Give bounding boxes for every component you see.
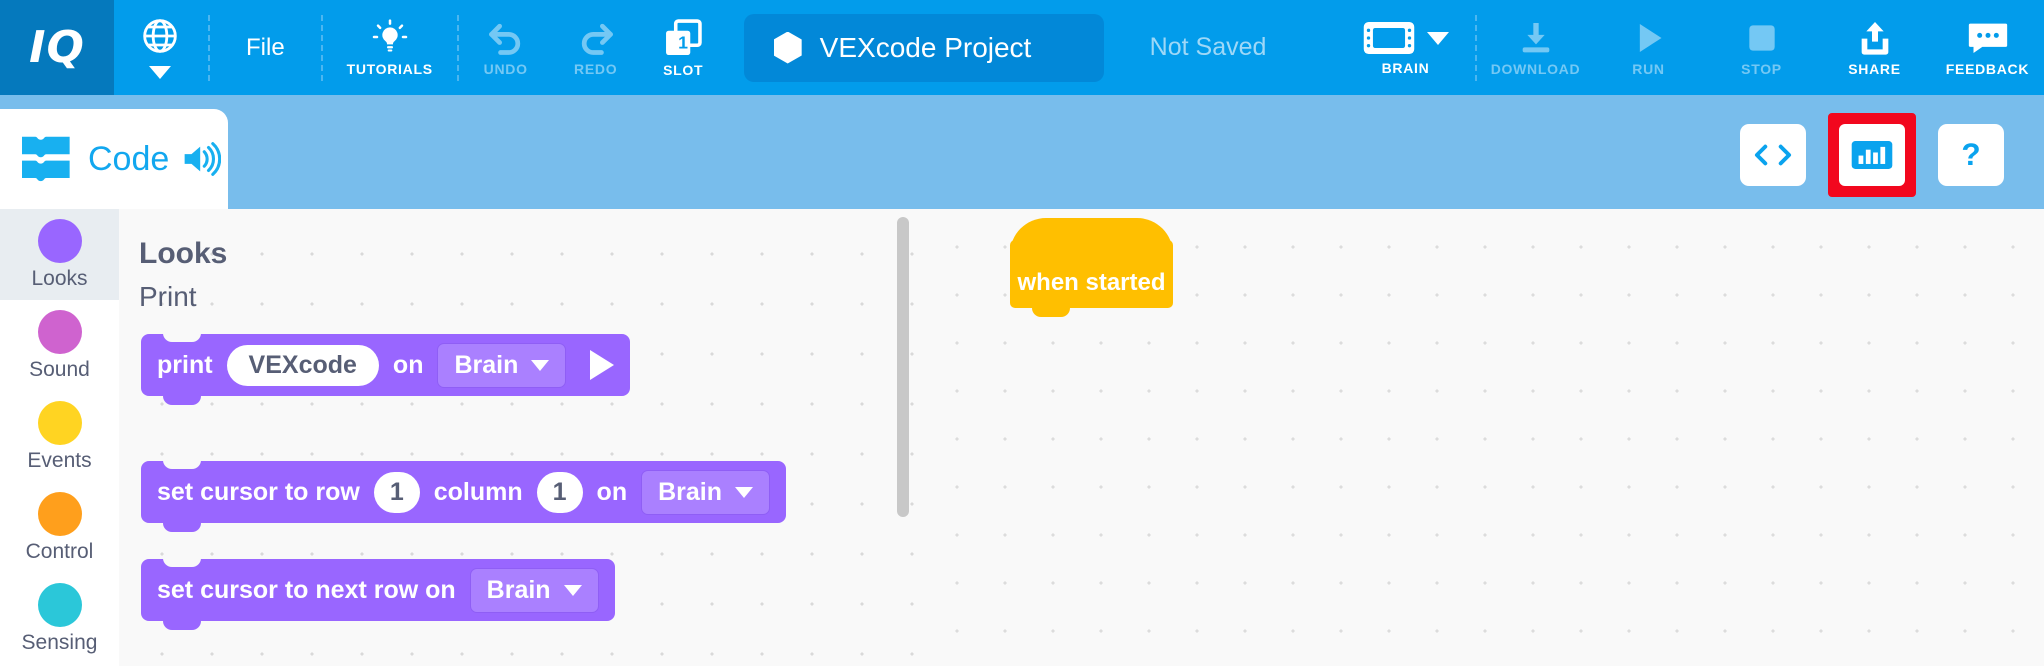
code-workspace[interactable]: when started bbox=[923, 209, 2044, 666]
category-label: Control bbox=[26, 540, 94, 564]
tab-code[interactable]: Code bbox=[0, 109, 228, 209]
category-label: Looks bbox=[31, 267, 87, 291]
text-code-toggle-icon[interactable] bbox=[1740, 124, 1806, 186]
redo-button[interactable]: REDO bbox=[551, 0, 641, 95]
category-label: Sound bbox=[29, 358, 90, 382]
chevron-down-icon bbox=[531, 360, 549, 371]
category-color-dot bbox=[38, 219, 82, 263]
slot-selector-button[interactable]: 1 SLOT bbox=[641, 0, 726, 95]
slot-label: SLOT bbox=[663, 62, 703, 78]
undo-icon bbox=[484, 18, 528, 58]
download-icon bbox=[1515, 18, 1557, 58]
palette-heading: Looks bbox=[139, 237, 227, 271]
globe-icon bbox=[140, 16, 180, 56]
divider bbox=[208, 15, 210, 81]
undo-label: UNDO bbox=[484, 61, 528, 77]
palette-scrollbar[interactable] bbox=[897, 217, 909, 517]
secondary-toolbar-tools: ? bbox=[1740, 113, 2004, 197]
cursor-block-text-1: set cursor to row bbox=[157, 478, 360, 507]
print-block-text-1: print bbox=[157, 351, 213, 380]
file-label: File bbox=[246, 34, 285, 62]
logo-text: IQ bbox=[29, 22, 85, 73]
divider bbox=[1475, 15, 1477, 81]
run-label: RUN bbox=[1632, 61, 1664, 77]
save-status-label: Not Saved bbox=[1150, 33, 1267, 62]
play-icon bbox=[1629, 18, 1669, 58]
cursor-row-input[interactable]: 1 bbox=[374, 472, 420, 513]
when-started-block[interactable]: when started bbox=[1010, 240, 1173, 308]
stop-button[interactable]: STOP bbox=[1705, 0, 1818, 95]
category-events[interactable]: Events bbox=[0, 391, 119, 482]
project-name-text: VEXcode Project bbox=[820, 32, 1032, 64]
secondary-toolbar: Code bbox=[0, 95, 2044, 209]
set-cursor-row-column-block[interactable]: set cursor to row 1 column 1 on Brain bbox=[141, 461, 786, 523]
cursor-block-text-2: column bbox=[434, 478, 523, 507]
block-palette[interactable]: Looks Print print VEXcode on Brain set c… bbox=[119, 209, 923, 666]
cursor-device-dropdown[interactable]: Brain bbox=[641, 470, 770, 515]
set-cursor-next-row-block[interactable]: set cursor to next row on Brain bbox=[141, 559, 615, 621]
slot-number: 1 bbox=[678, 33, 688, 53]
brain-chevron-down-icon bbox=[1427, 32, 1449, 45]
lightbulb-icon bbox=[370, 18, 410, 58]
redo-label: REDO bbox=[574, 61, 617, 77]
print-message-input[interactable]: VEXcode bbox=[227, 345, 379, 386]
cursor-block-text-3: on bbox=[597, 478, 628, 507]
device-info-icon[interactable] bbox=[1839, 124, 1905, 186]
hat-block-cap bbox=[1010, 218, 1173, 254]
category-color-dot bbox=[38, 492, 82, 536]
print-device-value: Brain bbox=[454, 351, 518, 380]
print-block[interactable]: print VEXcode on Brain bbox=[141, 334, 630, 396]
category-label: Sensing bbox=[22, 631, 98, 655]
run-block-play-icon[interactable] bbox=[590, 350, 614, 380]
share-button[interactable]: SHARE bbox=[1818, 0, 1931, 95]
chevron-down-icon bbox=[149, 66, 171, 79]
cursor-device-value: Brain bbox=[658, 478, 722, 507]
stop-icon bbox=[1742, 18, 1782, 58]
svg-text:?: ? bbox=[1961, 137, 1980, 172]
project-hexagon-icon bbox=[774, 32, 802, 64]
category-label: Events bbox=[27, 449, 91, 473]
code-blocks-icon bbox=[22, 133, 76, 185]
main-area: Looks Sound Events Control Sensing Looks… bbox=[0, 209, 2044, 666]
next-row-device-dropdown[interactable]: Brain bbox=[470, 568, 599, 613]
share-label: SHARE bbox=[1848, 61, 1901, 77]
category-looks[interactable]: Looks bbox=[0, 209, 119, 300]
category-sound[interactable]: Sound bbox=[0, 300, 119, 391]
toolbar-spacer bbox=[1266, 0, 1338, 95]
category-sensing[interactable]: Sensing bbox=[0, 573, 119, 664]
file-menu-button[interactable]: File bbox=[212, 0, 319, 95]
feedback-icon bbox=[1965, 18, 2011, 58]
code-tab-label: Code bbox=[88, 140, 169, 179]
divider bbox=[457, 15, 459, 81]
vex-iq-logo[interactable]: IQ bbox=[0, 0, 114, 95]
help-icon[interactable]: ? bbox=[1938, 124, 2004, 186]
print-device-dropdown[interactable]: Brain bbox=[437, 343, 566, 388]
divider bbox=[321, 15, 323, 81]
tutorials-button[interactable]: TUTORIALS bbox=[325, 0, 455, 95]
brain-label: BRAIN bbox=[1382, 60, 1430, 76]
next-row-device-value: Brain bbox=[487, 576, 551, 605]
print-block-text-2: on bbox=[393, 351, 424, 380]
brain-icon-row bbox=[1363, 19, 1449, 57]
hat-block-notch bbox=[1032, 308, 1070, 317]
chevron-down-icon bbox=[564, 585, 582, 596]
category-color-dot bbox=[38, 401, 82, 445]
language-selector[interactable] bbox=[114, 0, 206, 95]
cursor-column-input[interactable]: 1 bbox=[537, 472, 583, 513]
chevron-down-icon bbox=[735, 487, 753, 498]
category-color-dot bbox=[38, 583, 82, 627]
device-info-highlight bbox=[1828, 113, 1916, 197]
category-control[interactable]: Control bbox=[0, 482, 119, 573]
category-sidebar: Looks Sound Events Control Sensing bbox=[0, 209, 119, 666]
brain-icon bbox=[1363, 19, 1415, 57]
project-name-field[interactable]: VEXcode Project bbox=[744, 14, 1104, 82]
when-started-label: when started bbox=[1017, 269, 1165, 297]
tutorials-label: TUTORIALS bbox=[347, 61, 433, 77]
palette-subheading: Print bbox=[139, 281, 197, 313]
run-button[interactable]: RUN bbox=[1592, 0, 1705, 95]
download-button[interactable]: DOWNLOAD bbox=[1479, 0, 1592, 95]
category-color-dot bbox=[38, 310, 82, 354]
feedback-button[interactable]: FEEDBACK bbox=[1931, 0, 2044, 95]
feedback-label: FEEDBACK bbox=[1946, 61, 2029, 77]
speaker-icon[interactable] bbox=[181, 141, 221, 177]
next-row-block-text: set cursor to next row on bbox=[157, 576, 456, 605]
download-label: DOWNLOAD bbox=[1491, 61, 1581, 77]
brain-selector-button[interactable]: BRAIN bbox=[1338, 0, 1473, 95]
undo-button[interactable]: UNDO bbox=[461, 0, 551, 95]
stop-label: STOP bbox=[1741, 61, 1782, 77]
slot-icon: 1 bbox=[661, 17, 705, 59]
share-icon bbox=[1854, 18, 1896, 58]
redo-icon bbox=[574, 18, 618, 58]
top-toolbar: IQ File TUTORIALS bbox=[0, 0, 2044, 95]
